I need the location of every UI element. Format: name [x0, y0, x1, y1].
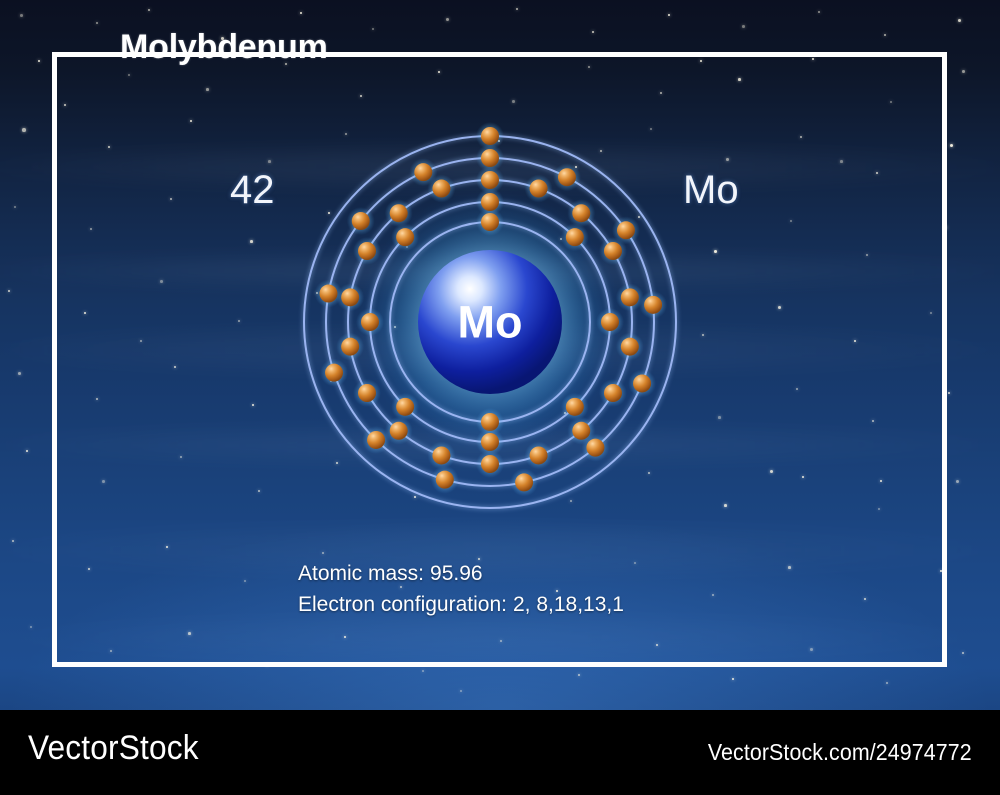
vectorstock-brand: VectorStock [28, 729, 199, 768]
electron [391, 393, 419, 421]
electron [616, 333, 644, 361]
star [422, 670, 424, 672]
star [732, 678, 734, 680]
star [96, 22, 98, 24]
electron [385, 199, 413, 227]
element-info: Atomic mass:95.96 Electron configuration… [298, 558, 624, 620]
star [516, 8, 518, 10]
atom-diagram: Mo [290, 122, 690, 522]
electron [336, 333, 364, 361]
element-symbol: Mo [683, 168, 739, 213]
atomic-mass-row: Atomic mass:95.96 [298, 558, 624, 589]
electron [612, 216, 640, 244]
electron [431, 466, 459, 494]
electron [525, 441, 553, 469]
electron [628, 369, 656, 397]
electron-configuration-row: Electron configuration:2, 8,18,13,1 [298, 589, 624, 620]
electron [427, 441, 455, 469]
electron [356, 308, 384, 336]
electron [553, 163, 581, 191]
electron [599, 379, 627, 407]
electron [320, 359, 348, 387]
star [592, 31, 594, 33]
star [18, 372, 21, 375]
star [956, 480, 959, 483]
electron [561, 223, 589, 251]
star [948, 392, 950, 394]
atomic-number: 42 [230, 168, 275, 213]
electron [476, 450, 504, 478]
star [958, 19, 961, 22]
electron [347, 207, 375, 235]
star [30, 626, 32, 628]
electron [525, 175, 553, 203]
star [884, 34, 886, 36]
electron [596, 308, 624, 336]
star [886, 682, 888, 684]
electron [476, 122, 504, 150]
electron [353, 237, 381, 265]
electron [561, 393, 589, 421]
star [460, 690, 462, 692]
star [962, 70, 965, 73]
nucleus: Mo [418, 250, 562, 394]
star [8, 290, 10, 292]
page-title: Molybdenum [120, 28, 328, 67]
electron [391, 223, 419, 251]
electron [353, 379, 381, 407]
electron [567, 199, 595, 227]
atom-svg: Mo [290, 122, 690, 522]
vectorstock-url: VectorStock.com/24974772 [708, 739, 972, 766]
star [26, 450, 28, 452]
electron [409, 158, 437, 186]
electron-configuration-value: 2, 8,18,13,1 [513, 593, 624, 616]
star [668, 14, 670, 16]
star [38, 60, 40, 62]
star [950, 144, 953, 147]
atomic-mass-label: Atomic mass: [298, 562, 424, 585]
electron [639, 291, 667, 319]
star [578, 674, 580, 676]
star [962, 652, 964, 654]
atomic-mass-value: 95.96 [430, 562, 483, 585]
star [446, 18, 449, 21]
star [148, 9, 150, 11]
star [818, 11, 820, 13]
star [22, 128, 26, 132]
star [300, 12, 302, 14]
electron [362, 426, 390, 454]
electron [581, 434, 609, 462]
electron-configuration-label: Electron configuration: [298, 593, 507, 616]
star [14, 206, 16, 208]
star [12, 540, 14, 542]
star [20, 14, 23, 17]
nucleus-label: Mo [458, 297, 523, 348]
poster-canvas: Molybdenum [0, 0, 1000, 795]
watermark-footer: VectorStock VectorStock.com/24974772 [0, 710, 1000, 795]
electron [314, 280, 342, 308]
star [742, 25, 745, 28]
electron [510, 468, 538, 496]
